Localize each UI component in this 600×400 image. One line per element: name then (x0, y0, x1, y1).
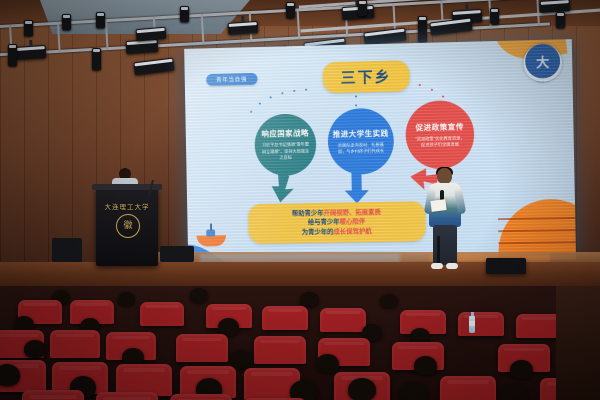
audience-head (300, 292, 319, 307)
auditorium-seat (140, 302, 184, 326)
auditorium-seat (440, 376, 496, 400)
audience-head (414, 356, 437, 375)
circle-body: "双减政策"优化教育资源， 促进孩子们全面发展 (415, 135, 465, 149)
circle-heading: 响应国家战略 (261, 128, 309, 140)
auditorium-seat (320, 308, 366, 332)
auditorium-seat (176, 334, 228, 362)
audience-head (190, 288, 208, 303)
audience-head (118, 292, 135, 306)
par-can-light (92, 48, 101, 70)
par-can-light (358, 0, 367, 16)
stage-light (228, 21, 259, 35)
audience-head (24, 340, 46, 358)
circle-policy-promotion: 促进政策宣传 "双减政策"优化教育资源， 促进孩子们全面发展 (405, 100, 475, 170)
par-can-light (286, 2, 295, 18)
audience-head (230, 350, 253, 369)
speech-notes (430, 199, 446, 212)
circle-student-practice: 推进大学生实践 实践队走向农村、扎根基 层，与乡村孩子们共成长 (327, 108, 394, 175)
par-can-light (180, 6, 189, 22)
audience-head (348, 378, 376, 400)
audience-head (0, 364, 20, 386)
par-can-light (62, 14, 71, 30)
arrow-down-blue-icon (342, 170, 371, 204)
par-can-light (556, 12, 565, 28)
par-can-light (24, 20, 33, 36)
emblem-mark: 大 (534, 55, 551, 72)
lectern-university-name: 大连理工大学 (96, 201, 158, 211)
audience-head (380, 294, 398, 308)
par-can-light (418, 16, 427, 42)
stage-light (126, 39, 159, 54)
led-presentation-screen: 大 青年当自强 三下乡 (184, 39, 576, 264)
circle-body: 实践队走向农村、扎根基 层，与乡村孩子们共成长 (338, 141, 384, 155)
par-can-light (8, 44, 17, 66)
stage-monitor-right (486, 258, 526, 274)
audience-head (290, 380, 318, 400)
water-bottle (469, 316, 475, 333)
summary-line-3: 为青少年的成长保驾护航 (302, 227, 372, 237)
slide-badge: 青年当自强 (206, 73, 257, 86)
circle-heading: 推进大学生实践 (333, 127, 389, 139)
arrow-down-teal-icon (269, 173, 303, 205)
lectern: 大连理工大学 徽 (96, 188, 158, 266)
auditorium-seat (458, 312, 504, 336)
photo-scene: 大 青年当自强 三下乡 (0, 0, 600, 400)
lectern-seal-icon: 徽 (116, 214, 140, 238)
auditorium-seat (96, 392, 158, 400)
presentation-slide: 大 青年当自强 三下乡 (184, 39, 576, 264)
par-can-light (490, 8, 499, 24)
audience-head (316, 354, 339, 373)
auditorium-seat (254, 336, 306, 364)
auditorium-seat (50, 330, 100, 358)
stage-light (540, 0, 571, 13)
slide-title: 三下乡 (322, 60, 409, 93)
circle-heading: 促进政策宣传 (415, 121, 463, 133)
audience-head (510, 360, 533, 379)
auditorium-seat (262, 306, 308, 330)
auditorium-house (0, 286, 600, 400)
university-emblem-icon: 大 (523, 43, 562, 82)
auditorium-seat (22, 390, 84, 400)
par-can-light (96, 12, 105, 28)
circle-national-strategy: 响应国家战略 习近平总书记强调"青年要 树立理想"，坚持大局观念 之目标 (254, 113, 316, 176)
audience-head (400, 382, 428, 400)
presenter (426, 168, 464, 272)
stage-monitor-left (160, 246, 194, 262)
side-wall (556, 286, 600, 400)
auditorium-seat (170, 394, 232, 400)
summary-box: 帮助青少年开阔视野、拓展素质 给与青少年暖心陪伴 为青少年的成长保驾护航 (248, 201, 426, 244)
stage-light (16, 45, 47, 60)
stage-loudspeaker-left (52, 238, 82, 262)
audience-head (500, 384, 528, 400)
circle-body: 习近平总书记强调"青年要 树立理想"，坚持大局观念 之目标 (262, 142, 309, 162)
